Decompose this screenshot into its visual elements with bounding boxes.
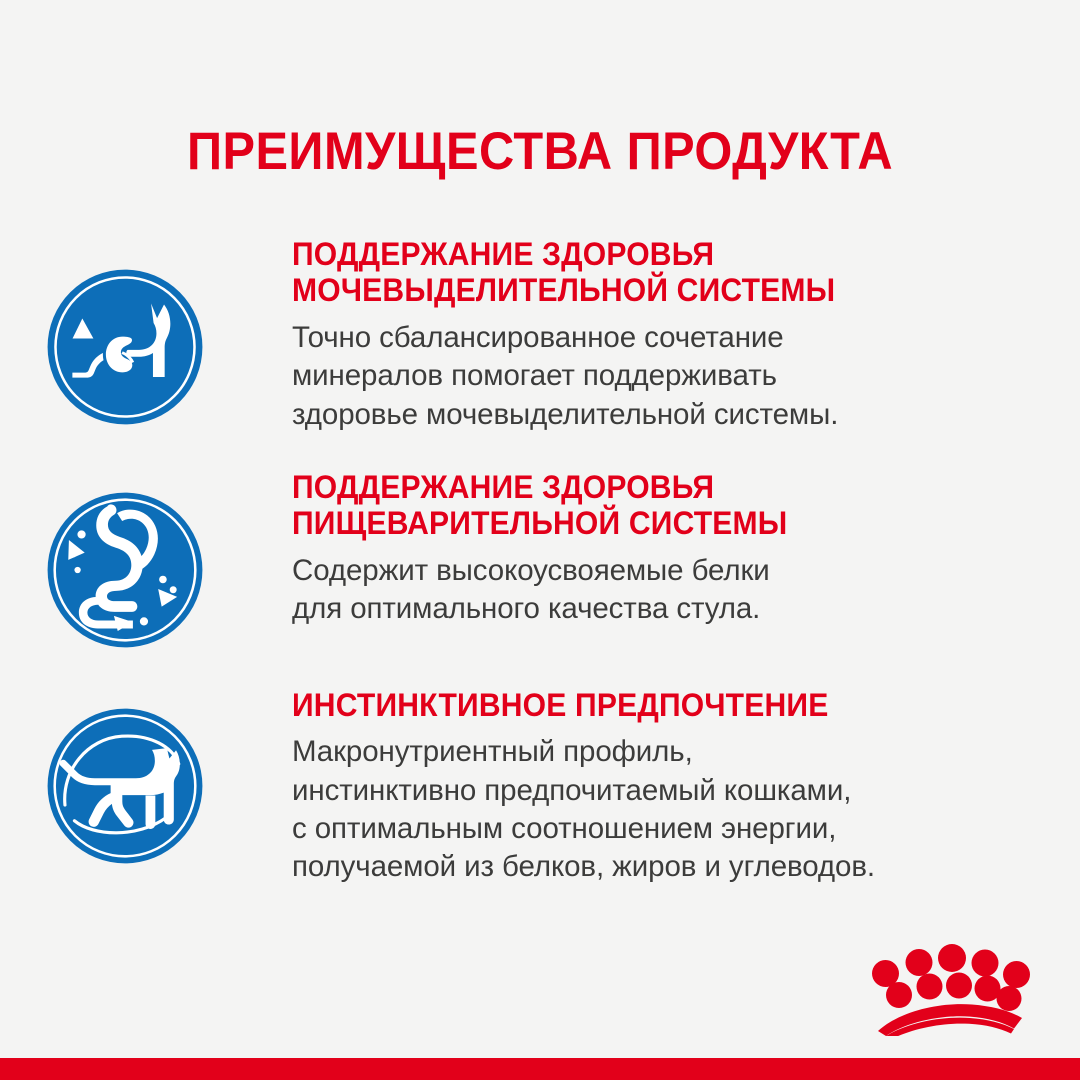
walking-cat-instinct-icon (46, 707, 204, 865)
royal-canin-crown-logo (862, 936, 1034, 1036)
cat-urinary-kidney-icon (46, 268, 204, 426)
page-title: ПРЕИМУЩЕСТВА ПРОДУКТА (43, 124, 1037, 180)
bottom-red-bar (0, 1058, 1080, 1080)
benefit-heading: ПОДДЕРЖАНИЕ ЗДОРОВЬЯ МОЧЕВЫДЕЛИТЕЛЬНОЙ С… (292, 236, 835, 309)
benefit-heading: ИНСТИНКТИВНОЕ ПРЕДПОЧТЕНИЕ (292, 687, 840, 723)
benefit-body: Макронутриентный профиль, инстинктивно п… (292, 733, 875, 886)
benefit-body: Точно сбалансированное сочетание минерал… (292, 319, 870, 434)
benefits-list: ПОДДЕРЖАНИЕ ЗДОРОВЬЯ МОЧЕВЫДЕЛИТЕЛЬНОЙ С… (0, 236, 1080, 887)
product-benefits-page: ПРЕИМУЩЕСТВА ПРОДУКТА (0, 0, 1080, 1080)
digestive-system-icon (46, 491, 204, 649)
benefit-text-cell: ИНСТИНКТИВНОЕ ПРЕДПОЧТЕНИЕ Макронутриент… (250, 687, 935, 887)
benefit-item-instinctive: ИНСТИНКТИВНОЕ ПРЕДПОЧТЕНИЕ Макронутриент… (0, 687, 1080, 887)
benefit-icon-cell (0, 687, 250, 865)
benefit-text-cell: ПОДДЕРЖАНИЕ ЗДОРОВЬЯ ПИЩЕВАРИТЕЛЬНОЙ СИС… (250, 469, 879, 629)
benefit-icon-cell (0, 469, 250, 649)
benefit-text-cell: ПОДДЕРЖАНИЕ ЗДОРОВЬЯ МОЧЕВЫДЕЛИТЕЛЬНОЙ С… (250, 236, 930, 434)
benefit-item-digestive: ПОДДЕРЖАНИЕ ЗДОРОВЬЯ ПИЩЕВАРИТЕЛЬНОЙ СИС… (0, 469, 1080, 649)
benefit-item-urinary: ПОДДЕРЖАНИЕ ЗДОРОВЬЯ МОЧЕВЫДЕЛИТЕЛЬНОЙ С… (0, 236, 1080, 434)
benefit-body: Содержит высокоусвояемые белки для оптим… (292, 552, 819, 629)
benefit-heading: ПОДДЕРЖАНИЕ ЗДОРОВЬЯ ПИЩЕВАРИТЕЛЬНОЙ СИС… (292, 469, 787, 542)
benefit-icon-cell (0, 236, 250, 426)
